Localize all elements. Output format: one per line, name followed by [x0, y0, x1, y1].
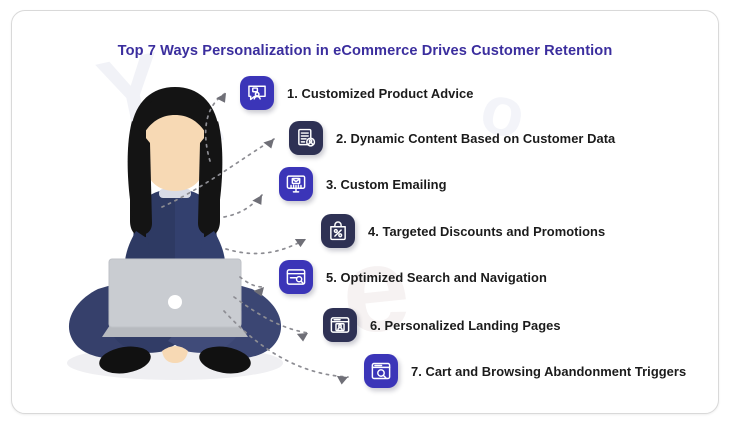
list-item-label: 5. Optimized Search and Navigation — [326, 270, 547, 285]
list-item[interactable]: 5. Optimized Search and Navigation — [279, 260, 547, 294]
list-item-label: 3. Custom Emailing — [326, 177, 447, 192]
landing-page-person-icon[interactable] — [323, 308, 357, 342]
browser-magnifier-icon[interactable] — [364, 354, 398, 388]
document-person-icon[interactable] — [289, 121, 323, 155]
shopping-bag-percent-icon[interactable] — [321, 214, 355, 248]
list-item[interactable]: 7. Cart and Browsing Abandonment Trigger… — [364, 354, 686, 388]
list-item[interactable]: 3. Custom Emailing — [279, 167, 447, 201]
list-item[interactable]: 2. Dynamic Content Based on Customer Dat… — [289, 121, 615, 155]
infographic-frame: Y C e o Top 7 Ways Personalization in eC… — [11, 10, 719, 414]
chat-person-icon[interactable] — [240, 76, 274, 110]
list-item[interactable]: 1. Customized Product Advice — [240, 76, 473, 110]
monitor-envelope-icon[interactable] — [279, 167, 313, 201]
dotted-curved-arrows — [12, 11, 718, 413]
infographic-canvas: Y C e o Top 7 Ways Personalization in eC… — [0, 0, 740, 431]
list-item[interactable]: 6. Personalized Landing Pages — [323, 308, 561, 342]
list-item-label: 4. Targeted Discounts and Promotions — [368, 224, 605, 239]
browser-search-bar-icon[interactable] — [279, 260, 313, 294]
list-item-label: 2. Dynamic Content Based on Customer Dat… — [336, 131, 615, 146]
list-item[interactable]: 4. Targeted Discounts and Promotions — [321, 214, 605, 248]
list-item-label: 6. Personalized Landing Pages — [370, 318, 561, 333]
list-item-label: 7. Cart and Browsing Abandonment Trigger… — [411, 364, 686, 379]
list-item-label: 1. Customized Product Advice — [287, 86, 473, 101]
